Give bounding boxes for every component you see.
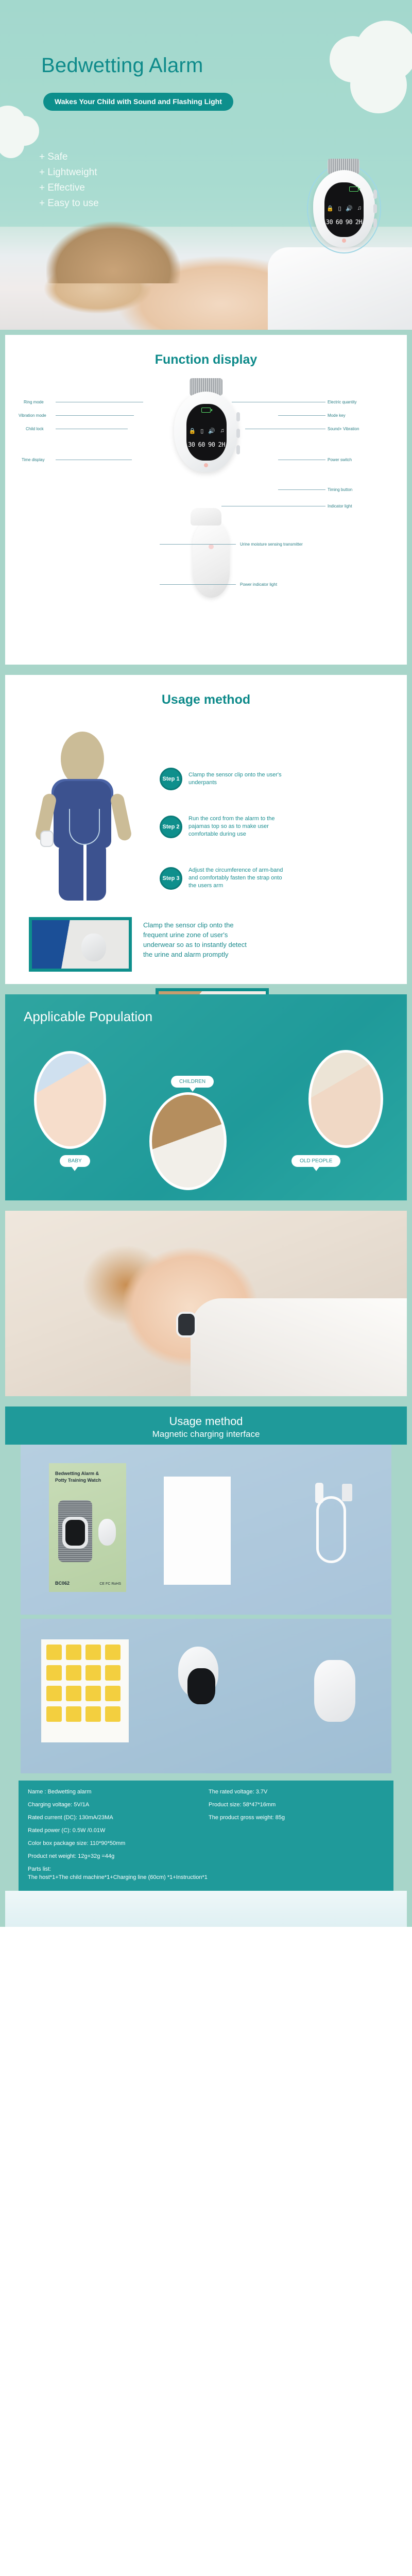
tag-baby: BABY [60,1155,90,1167]
usage-method-title: Usage method [5,675,407,707]
tag-old-people: OLD PEOPLE [291,1155,340,1167]
box-title-line1: Bedwetting Alarm & [55,1470,121,1477]
applicable-population-section: Applicable Population BABY CHILDREN OLD … [0,989,412,1206]
sensor-clip [191,508,221,526]
applicable-population-title: Applicable Population [5,994,407,1025]
usage-method-card: Usage method Step 1 Clamp the sensor cli… [5,675,407,984]
leader-line [245,429,325,429]
sticker [46,1706,62,1722]
cable-loop [316,1496,346,1563]
sensor-clip-photo [314,1660,355,1722]
device-body: 🔒 ▯ 🔊 ♫ 30 60 90 2H [313,170,375,247]
leader-line [160,584,236,585]
spec-net-weight: Product net weight: 12g+32g =44g [28,1852,384,1860]
product-listing-page: Bedwetting Alarm Wakes Your Child with S… [0,0,412,1927]
callout-timing-button: Timing button [328,487,352,492]
function-display-title: Function display [5,335,407,367]
spec-parts-label: Parts list: [28,1865,384,1873]
hero-feature-list: Safe Lightweight Effective Easy to use [39,149,99,211]
battery-icon [349,187,358,192]
accessories-photo [21,1619,391,1773]
feature-item: Easy to use [39,196,99,211]
power-switch-button[interactable] [236,429,240,438]
sticker [85,1645,101,1660]
battery-icon [201,408,211,413]
callout-power-switch: Power switch [328,457,352,462]
charging-cable [308,1481,354,1573]
spec-product-size: Product size: 58*47*16mm [209,1801,384,1809]
specification-table: Name : Bedwetting alarm The rated voltag… [19,1781,393,1891]
device-time-row: 30 60 90 2H [186,441,227,448]
sticker [66,1665,81,1681]
alarm-unit-photo [175,1634,221,1737]
step-text: Adjust the circumference of arm-band and… [188,867,286,890]
leader-line [56,402,143,402]
sticker [85,1706,101,1722]
vibration-icon: ▯ [200,428,203,434]
baby-photo [34,1051,106,1149]
callout-electric-quantity: Electric quantity [328,400,356,404]
speaker-icon: 🔊 [208,428,215,434]
time-option: 30 [188,441,195,448]
leader-line [232,402,325,402]
spec-package-size: Color box package size: 110*90*50mm [28,1839,384,1848]
hero-title: Bedwetting Alarm [41,54,203,77]
spec-grid: Name : Bedwetting alarm The rated voltag… [28,1788,384,1860]
sticker [46,1665,62,1681]
worn-alarm-device [40,831,54,847]
leader-line [278,415,325,416]
leader-line [278,460,325,460]
spec-charging-voltage: Charging voltage: 5V/1A [28,1801,203,1809]
leader-line [56,460,132,460]
usage-step-2: Step 2 Run the cord from the alarm to th… [160,815,286,838]
package-contents-photo: Bedwetting Alarm & Potty Training Watch … [21,1445,391,1615]
clip-on-underwear-photo [29,917,132,972]
charging-title: Usage method [5,1415,407,1428]
sticker [66,1645,81,1660]
time-option: 90 [208,441,215,448]
box-sku: BC062 [55,1581,70,1586]
time-option: 90 [346,218,352,226]
box-certification-marks: CE FC RoHS [99,1582,121,1586]
device-icon-row: 🔒 ▯ 🔊 ♫ [186,428,227,434]
charging-header: Usage method Magnetic charging interface [5,1406,407,1445]
music-note-icon: ♫ [357,205,361,212]
box-title-line2: Potty Training Watch [55,1477,121,1484]
sensor-clip-object [81,934,106,961]
charging-section: Usage method Magnetic charging interface… [0,1401,412,1927]
charging-subtitle: Magnetic charging interface [5,1428,407,1439]
feature-item: Lightweight [39,165,99,180]
function-display-section: Function display 🔒 ▯ 🔊 ♫ [0,330,412,670]
callout-vibration-mode: Vibration mode [19,413,46,418]
indicator-light [342,239,346,243]
sticker [105,1706,121,1722]
feature-item: Safe [39,149,99,165]
child-hair-shape [46,222,180,283]
spec-gross-weight: The product gross weight: 85g [209,1814,384,1822]
spec-name: Name : Bedwetting alarm [28,1788,203,1796]
clip-instruction-text: Clamp the sensor clip onto the frequent … [143,920,256,959]
lifestyle-photo-section [0,1206,412,1401]
callout-child-lock: Child lock [26,427,44,431]
box-watch-screen [65,1520,85,1546]
sticker-sheet [41,1639,129,1742]
sticker [105,1645,121,1660]
urine-sensor-dot-icon [209,544,214,549]
sticker [46,1645,62,1660]
lifestyle-photo [5,1211,407,1396]
figure-legs [59,844,106,901]
time-option: 2H [355,218,362,226]
children-photo [149,1092,227,1190]
device-time-row: 30 60 90 2H [324,218,364,226]
time-option: 60 [336,218,342,226]
step-text: Run the cord from the alarm to the pajam… [188,815,286,838]
leader-line [56,429,128,429]
sticker [46,1686,62,1701]
footer-spacer [5,1891,407,1927]
time-option: 30 [326,218,333,226]
step-badge: Step 3 [160,867,182,890]
sensor-diagram: Urine moisture sensing transmitter Power… [5,505,412,659]
spec-rated-current: Rated current (DC): 130mA/23MA [28,1814,203,1822]
step-badge: Step 1 [160,768,182,790]
alarm-body [178,1647,218,1698]
alarm-screen [187,1668,215,1704]
power-switch-button[interactable] [373,204,377,213]
device-screen: 🔒 ▯ 🔊 ♫ 30 60 90 2H [186,404,227,461]
feature-item: Effective [39,180,99,196]
leader-line [278,489,325,490]
power-indicator-dot-icon [209,584,214,589]
lock-icon: 🔒 [327,205,334,212]
callout-sound-vibration: Sound+ Vibration [328,427,359,431]
function-device-image: 🔒 ▯ 🔊 ♫ 30 60 90 2H [174,392,238,472]
sticker [105,1665,121,1681]
usage-step-1: Step 1 Clamp the sensor clip onto the us… [160,768,286,790]
vibration-icon: ▯ [338,205,341,212]
sticker [66,1706,81,1722]
blanket-shape [268,247,412,330]
box-clip-image [98,1519,116,1546]
user-illustration [36,732,134,902]
usb-connector [342,1484,352,1501]
step-badge: Step 2 [160,816,182,838]
spec-rated-voltage: The rated voltage: 3.7V [209,1788,384,1796]
callout-power-indicator: Power indicator light [240,582,277,587]
callout-mode-key: Mode key [328,413,346,418]
cloud-decor-icon [350,57,407,113]
sticker [85,1686,101,1701]
device-screen: 🔒 ▯ 🔊 ♫ 30 60 90 2H [324,182,364,237]
mode-key-button[interactable] [236,412,240,421]
pillow-shape [191,1298,407,1396]
callout-time-display: Time display [22,457,45,462]
box-watch-image [58,1500,92,1562]
step-text: Clamp the sensor clip onto the user's un… [188,771,286,787]
sensor-body [193,520,230,598]
sticker [85,1665,101,1681]
figure-arm-right [110,792,133,841]
time-option: 2H [218,441,225,448]
usage-step-3: Step 3 Adjust the circumference of arm-b… [160,867,286,890]
retail-box: Bedwetting Alarm & Potty Training Watch … [49,1463,126,1592]
leader-line [56,415,134,416]
lock-icon: 🔒 [189,428,196,434]
music-note-icon: ♫ [220,428,224,434]
speaker-icon: 🔊 [346,205,353,212]
figure-leg-divider [83,844,87,901]
callout-ring-mode: Ring mode [24,400,44,404]
callout-urine-sensor: Urine moisture sensing transmitter [240,542,303,547]
timing-button[interactable] [236,445,240,454]
tag-children: CHILDREN [171,1076,214,1088]
hero-device-image: 🔒 ▯ 🔊 ♫ 30 60 90 2H [313,170,375,247]
timing-button[interactable] [373,218,377,228]
mode-key-button[interactable] [373,190,377,199]
device-body: 🔒 ▯ 🔊 ♫ 30 60 90 2H [174,392,238,472]
worn-device-on-wrist [176,1312,197,1337]
sticker [105,1686,121,1701]
hero-subtitle: Wakes Your Child with Sound and Flashing… [43,93,233,111]
time-option: 60 [198,441,205,448]
box-watch-face [62,1517,88,1549]
instruction-manual [164,1477,231,1585]
leader-line [160,544,236,545]
usage-method-section: Usage method Step 1 Clamp the sensor cli… [0,670,412,989]
sensor-cord [69,809,100,845]
device-icon-row: 🔒 ▯ 🔊 ♫ [324,205,364,212]
figure-head [61,732,104,786]
sticker [66,1686,81,1701]
indicator-light [204,463,208,467]
spec-rated-power: Rated power (C): 0.5W /0.01W [28,1826,384,1835]
old-people-photo [308,1050,383,1148]
applicable-population-card: Applicable Population BABY CHILDREN OLD … [5,994,407,1200]
cloud-decor-icon [0,131,24,158]
spec-parts-value: The host*1+The child machine*1+Charging … [28,1873,384,1882]
hero-section: Bedwetting Alarm Wakes Your Child with S… [0,0,412,330]
function-display-card: Function display 🔒 ▯ 🔊 ♫ [5,335,407,665]
